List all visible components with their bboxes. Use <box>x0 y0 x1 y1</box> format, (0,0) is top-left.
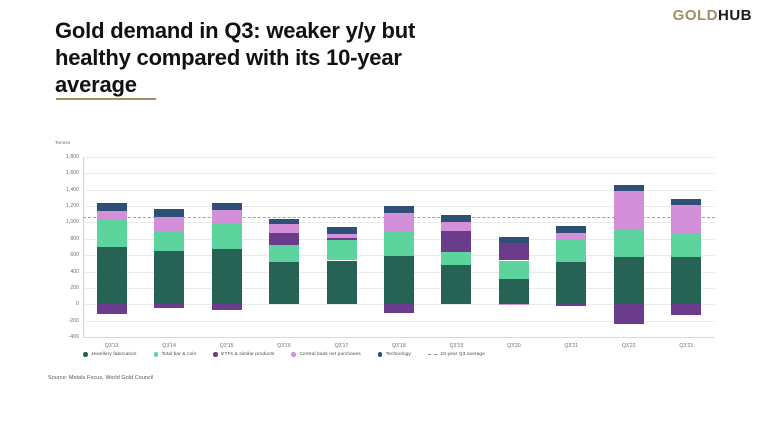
chart-legend: Jewellery fabricationTotal bar & coinETF… <box>83 352 485 357</box>
bar-segment <box>556 240 586 262</box>
stacked-bar[interactable] <box>499 157 529 337</box>
bar-segment <box>671 233 701 257</box>
y-axis-tick-label: 1,800 <box>66 154 79 160</box>
bar-segment <box>614 304 644 324</box>
source-note: Source: Metals Focus, World Gold Council <box>48 375 153 381</box>
logo-gold-text: GOLD <box>673 7 718 24</box>
bar-segment <box>384 304 414 313</box>
bar-segment <box>384 231 414 256</box>
bar-segment <box>499 243 529 260</box>
legend-swatch-icon <box>291 352 296 357</box>
bar-segment <box>327 238 357 240</box>
x-axis-tick-label: Q3'18 <box>392 343 406 349</box>
bar-segment <box>212 249 242 304</box>
stacked-bar[interactable] <box>97 157 127 337</box>
legend-item[interactable]: Jewellery fabrication <box>83 352 137 357</box>
bar-segment <box>154 217 184 232</box>
bar-segment <box>556 233 586 240</box>
bar-segment <box>614 191 644 229</box>
bar-segment <box>671 205 701 233</box>
stacked-bar[interactable] <box>441 157 471 337</box>
bar-segment <box>212 304 242 309</box>
y-axis-tick-label: 400 <box>70 269 79 275</box>
bar-column[interactable]: Q3'14 <box>140 157 197 337</box>
bar-column[interactable]: Q3'18 <box>370 157 427 337</box>
title-underline-rule <box>56 98 156 100</box>
bar-segment <box>154 251 184 304</box>
bar-segment <box>671 257 701 304</box>
legend-item[interactable]: ETFs & similar products <box>213 352 274 357</box>
gridline: -400 <box>83 337 715 338</box>
stacked-bar[interactable] <box>671 157 701 337</box>
bar-segment <box>441 231 471 252</box>
bar-segment <box>499 237 529 244</box>
x-axis-tick-label: Q3'21 <box>565 343 579 349</box>
bar-column[interactable]: Q3'17 <box>313 157 370 337</box>
bar-segment <box>441 252 471 265</box>
bar-segment <box>384 213 414 231</box>
bar-segment <box>97 220 127 247</box>
bar-segment <box>384 206 414 213</box>
bar-column[interactable]: Q3'22 <box>600 157 657 337</box>
x-axis-tick-label: Q3'15 <box>220 343 234 349</box>
legend-label: Total bar & coin <box>162 352 197 357</box>
stacked-bar[interactable] <box>556 157 586 337</box>
bar-column[interactable]: Q3'20 <box>485 157 542 337</box>
y-axis-tick-label: 0 <box>76 301 79 307</box>
stacked-bar[interactable] <box>614 157 644 337</box>
bar-segment <box>97 211 127 220</box>
y-axis-tick-label: -200 <box>69 318 79 324</box>
bar-segment <box>327 227 357 234</box>
bar-segment <box>154 231 184 251</box>
legend-label: 10-year Q3 average <box>441 352 485 357</box>
bar-segment <box>327 240 357 260</box>
bar-segment <box>269 233 299 245</box>
stacked-bar[interactable] <box>269 157 299 337</box>
bar-segment <box>614 229 644 257</box>
bar-column[interactable]: Q3'19 <box>428 157 485 337</box>
x-axis-tick-label: Q3'20 <box>507 343 521 349</box>
legend-item[interactable]: Total bar & coin <box>154 352 197 357</box>
bar-segment <box>441 265 471 304</box>
y-axis-tick-label: 200 <box>70 285 79 291</box>
bar-segment <box>614 257 644 304</box>
legend-item-average[interactable]: 10-year Q3 average <box>428 352 485 357</box>
legend-label: Jewellery fabrication <box>91 352 137 357</box>
stacked-bar[interactable] <box>327 157 357 337</box>
bar-column[interactable]: Q3'23 <box>658 157 715 337</box>
x-axis-tick-label: Q3'17 <box>335 343 349 349</box>
page-title: Gold demand in Q3: weaker y/y but health… <box>55 18 475 98</box>
bar-segment <box>154 304 184 308</box>
bar-column[interactable]: Q3'21 <box>543 157 600 337</box>
bar-segment <box>269 219 299 224</box>
y-axis-tick-label: -400 <box>69 334 79 340</box>
x-axis-tick-label: Q3'22 <box>622 343 636 349</box>
bar-segment <box>556 304 586 306</box>
bar-segment <box>97 203 127 211</box>
bar-segment <box>499 304 529 305</box>
legend-swatch-icon <box>213 352 218 357</box>
x-axis-tick-label: Q3'13 <box>105 343 119 349</box>
bar-segment <box>97 247 127 304</box>
legend-swatch-icon <box>378 352 383 357</box>
bar-segment <box>441 215 471 222</box>
bar-segment <box>671 304 701 315</box>
stacked-bar[interactable] <box>154 157 184 337</box>
legend-item[interactable]: Technology <box>378 352 411 357</box>
y-axis-tick-label: 1,000 <box>66 219 79 225</box>
bar-column[interactable]: Q3'13 <box>83 157 140 337</box>
y-axis-tick-label: 800 <box>70 236 79 242</box>
legend-swatch-icon <box>83 352 88 357</box>
bar-column[interactable]: Q3'16 <box>255 157 312 337</box>
bar-segment <box>499 279 529 304</box>
legend-label: Technology <box>386 352 411 357</box>
x-axis-tick-label: Q3'19 <box>450 343 464 349</box>
bar-segment <box>441 222 471 231</box>
bar-segment <box>671 199 701 205</box>
y-axis-unit-label: Tonnes <box>55 140 70 145</box>
legend-label: Central bank net purchases <box>299 352 360 357</box>
bar-segment <box>269 262 299 304</box>
bar-segment <box>97 304 127 314</box>
stacked-bar[interactable] <box>384 157 414 337</box>
legend-item[interactable]: Central bank net purchases <box>291 352 360 357</box>
x-axis-tick-label: Q3'14 <box>162 343 176 349</box>
goldhub-logo: GOLDHUB <box>673 8 752 23</box>
bar-segment <box>556 262 586 304</box>
dashed-line-icon <box>428 354 437 355</box>
bar-column[interactable]: Q3'15 <box>198 157 255 337</box>
bar-segment <box>212 210 242 224</box>
bars-group: Q3'13Q3'14Q3'15Q3'16Q3'17Q3'18Q3'19Q3'20… <box>83 157 715 337</box>
bar-segment <box>556 226 586 233</box>
y-axis-tick-label: 1,400 <box>66 187 79 193</box>
logo-hub-text: HUB <box>718 7 752 24</box>
bar-segment <box>327 234 357 239</box>
y-axis-tick-label: 600 <box>70 252 79 258</box>
chart-plot-area: 1,8001,6001,4001,2001,0008006004002000-2… <box>83 157 715 337</box>
x-axis-tick-label: Q3'23 <box>679 343 693 349</box>
bar-segment <box>614 185 644 191</box>
slide: GOLDHUB Gold demand in Q3: weaker y/y bu… <box>0 0 768 432</box>
bar-segment <box>212 203 242 210</box>
stacked-bar[interactable] <box>212 157 242 337</box>
legend-swatch-icon <box>154 352 159 357</box>
bar-segment <box>212 224 242 249</box>
bar-segment <box>499 261 529 279</box>
bar-segment <box>154 209 184 216</box>
legend-label: ETFs & similar products <box>221 352 274 357</box>
y-axis-tick-label: 1,600 <box>66 170 79 176</box>
bar-segment <box>269 245 299 262</box>
bar-segment <box>269 224 299 233</box>
x-axis-tick-label: Q3'16 <box>277 343 291 349</box>
y-axis-tick-label: 1,200 <box>66 203 79 209</box>
bar-segment <box>327 261 357 305</box>
bar-segment <box>384 256 414 304</box>
gold-demand-chart: Tonnes 1,8001,6001,4001,2001,00080060040… <box>55 140 715 395</box>
